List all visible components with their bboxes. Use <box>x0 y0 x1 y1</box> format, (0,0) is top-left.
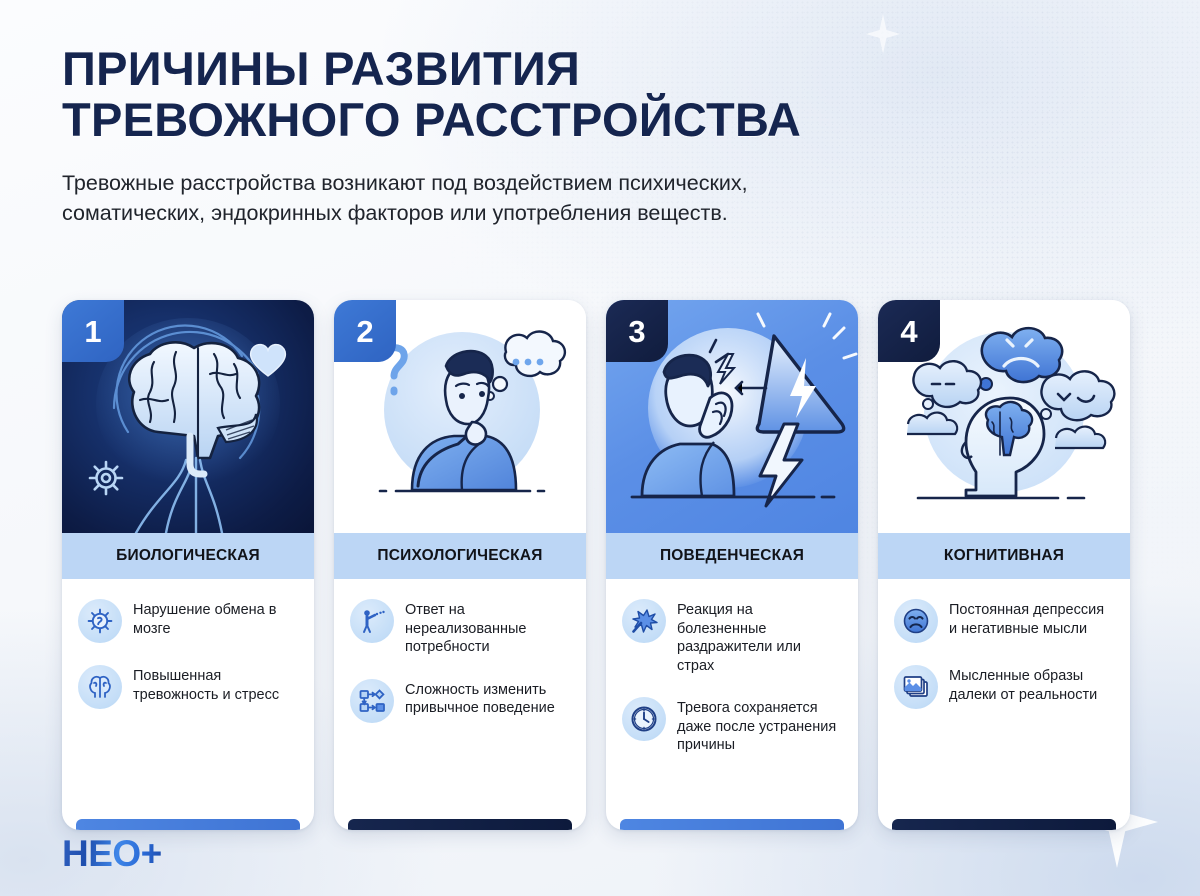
card-artwork-behavioral: 3 <box>606 300 858 533</box>
bullet-text: Нарушение обмена в мозге <box>133 599 298 638</box>
card-label: КОГНИТИВНАЯ <box>944 547 1064 565</box>
card-number-badge: 3 <box>606 300 668 362</box>
card-artwork-psychological: 2 <box>334 300 586 533</box>
bullet-text: Мысленные образы далеки от реальности <box>949 665 1114 704</box>
card-psychological[interactable]: 2 <box>334 300 586 830</box>
burst-icon <box>622 599 666 643</box>
bullet-item: Сложность изменить привычное поведение <box>350 679 570 723</box>
card-label: ПОВЕДЕНЧЕСКАЯ <box>660 547 804 565</box>
header: ПРИЧИНЫ РАЗВИТИЯ ТРЕВОЖНОГО РАССТРОЙСТВА… <box>62 44 1062 229</box>
bullet-text: Тревога сохраняется даже после устранени… <box>677 697 842 755</box>
card-artwork-cognitive: 4 <box>878 300 1130 533</box>
card-cognitive[interactable]: 4 <box>878 300 1130 830</box>
card-footer-bar <box>76 819 300 830</box>
gear-brain-icon <box>78 599 122 643</box>
page-subtitle: Тревожные расстройства возникают под воз… <box>62 168 1012 229</box>
card-number-badge: 1 <box>62 300 124 362</box>
card-bullets: Реакция на болезненные раздражители или … <box>606 579 858 819</box>
bullet-text: Реакция на болезненные раздражители или … <box>677 599 842 675</box>
sad-face-icon <box>894 599 938 643</box>
bullet-text: Постоянная депрессия и негативные мысли <box>949 599 1114 638</box>
card-label-band: КОГНИТИВНАЯ <box>878 533 1130 579</box>
bullet-item: Ответ на нереализованные потребности <box>350 599 570 657</box>
bullet-item: Реакция на болезненные раздражители или … <box>622 599 842 675</box>
title-line-1: ПРИЧИНЫ РАЗВИТИЯ <box>62 44 1062 95</box>
card-label: ПСИХОЛОГИЧЕСКАЯ <box>377 547 542 565</box>
small-thought-cloud-icon <box>1055 427 1105 448</box>
cards-grid: 1 <box>62 300 1140 830</box>
card-number-badge: 2 <box>334 300 396 362</box>
brain-icon <box>78 665 122 709</box>
flowchart-icon <box>350 679 394 723</box>
card-bullets: Ответ на нереализованные потребности <box>334 579 586 819</box>
card-label-band: ПСИХОЛОГИЧЕСКАЯ <box>334 533 586 579</box>
bullet-text: Повышенная тревожность и стресс <box>133 665 298 704</box>
card-number-badge: 4 <box>878 300 940 362</box>
bullet-item: Нарушение обмена в мозге <box>78 599 298 643</box>
bullet-item: Постоянная депрессия и негативные мысли <box>894 599 1114 643</box>
card-footer-bar <box>348 819 572 830</box>
card-label: БИОЛОГИЧЕСКАЯ <box>116 547 260 565</box>
bullet-text: Ответ на нереализованные потребности <box>405 599 570 657</box>
card-biological[interactable]: 1 <box>62 300 314 830</box>
brand-logo: НЕО+ <box>62 835 162 872</box>
clock-icon <box>622 697 666 741</box>
subtitle-line-2: соматических, эндокринных факторов или у… <box>62 198 1012 229</box>
bullet-item: Повышенная тревожность и стресс <box>78 665 298 709</box>
card-bullets: Нарушение обмена в мозге Повышенная трев… <box>62 579 314 819</box>
bullet-item: Тревога сохраняется даже после устранени… <box>622 697 842 755</box>
card-bullets: Постоянная депрессия и негативные мысли … <box>878 579 1130 819</box>
page-title: ПРИЧИНЫ РАЗВИТИЯ ТРЕВОЖНОГО РАССТРОЙСТВА <box>62 44 1062 146</box>
card-behavioral[interactable]: 3 <box>606 300 858 830</box>
bullet-text: Сложность изменить привычное поведение <box>405 679 570 718</box>
photos-icon <box>894 665 938 709</box>
title-line-2: ТРЕВОЖНОГО РАССТРОЙСТВА <box>62 95 1062 146</box>
gear-icon <box>90 462 122 494</box>
card-label-band: ПОВЕДЕНЧЕСКАЯ <box>606 533 858 579</box>
card-label-band: БИОЛОГИЧЕСКАЯ <box>62 533 314 579</box>
person-reaching-icon <box>350 599 394 643</box>
card-footer-bar <box>620 819 844 830</box>
subtitle-line-1: Тревожные расстройства возникают под воз… <box>62 168 1012 199</box>
card-footer-bar <box>892 819 1116 830</box>
warning-triangle-icon <box>757 336 843 432</box>
card-artwork-biological: 1 <box>62 300 314 533</box>
bullet-item: Мысленные образы далеки от реальности <box>894 665 1114 709</box>
infographic-page: ПРИЧИНЫ РАЗВИТИЯ ТРЕВОЖНОГО РАССТРОЙСТВА… <box>0 0 1200 896</box>
